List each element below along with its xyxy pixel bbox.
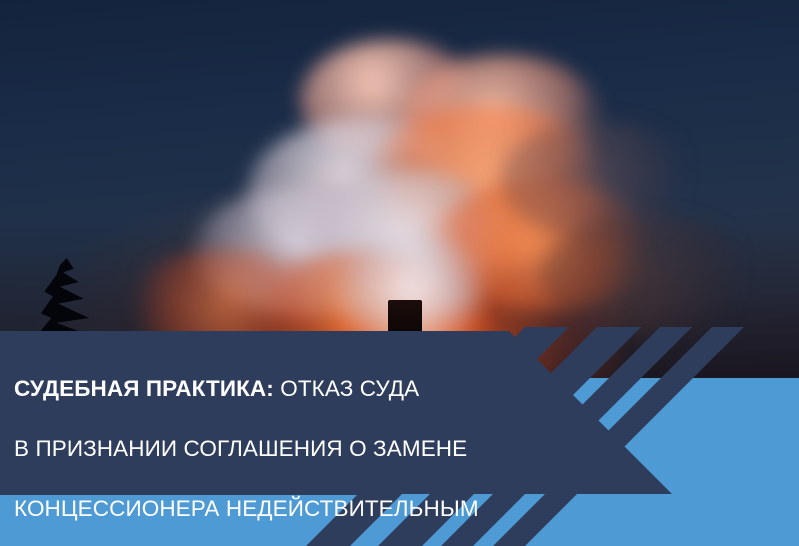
title-line-1: СУДЕБНАЯ ПРАКТИКА: ОТКАЗ СУДА — [14, 374, 534, 404]
title-line-3: КОНЦЕССИОНЕРА НЕДЕЙСТВИТЕЛЬНЫМ — [14, 494, 534, 524]
title-lead: СУДЕБНАЯ ПРАКТИКА: — [14, 376, 274, 401]
title-line-2: В ПРИЗНАНИИ СОГЛАШЕНИЯ О ЗАМЕНЕ — [14, 434, 534, 464]
title-line-1-rest: ОТКАЗ СУДА — [274, 376, 419, 401]
banner-title: СУДЕБНАЯ ПРАКТИКА: ОТКАЗ СУДА В ПРИЗНАНИ… — [14, 344, 534, 546]
banner-image: СУДЕБНАЯ ПРАКТИКА: ОТКАЗ СУДА В ПРИЗНАНИ… — [0, 0, 799, 546]
